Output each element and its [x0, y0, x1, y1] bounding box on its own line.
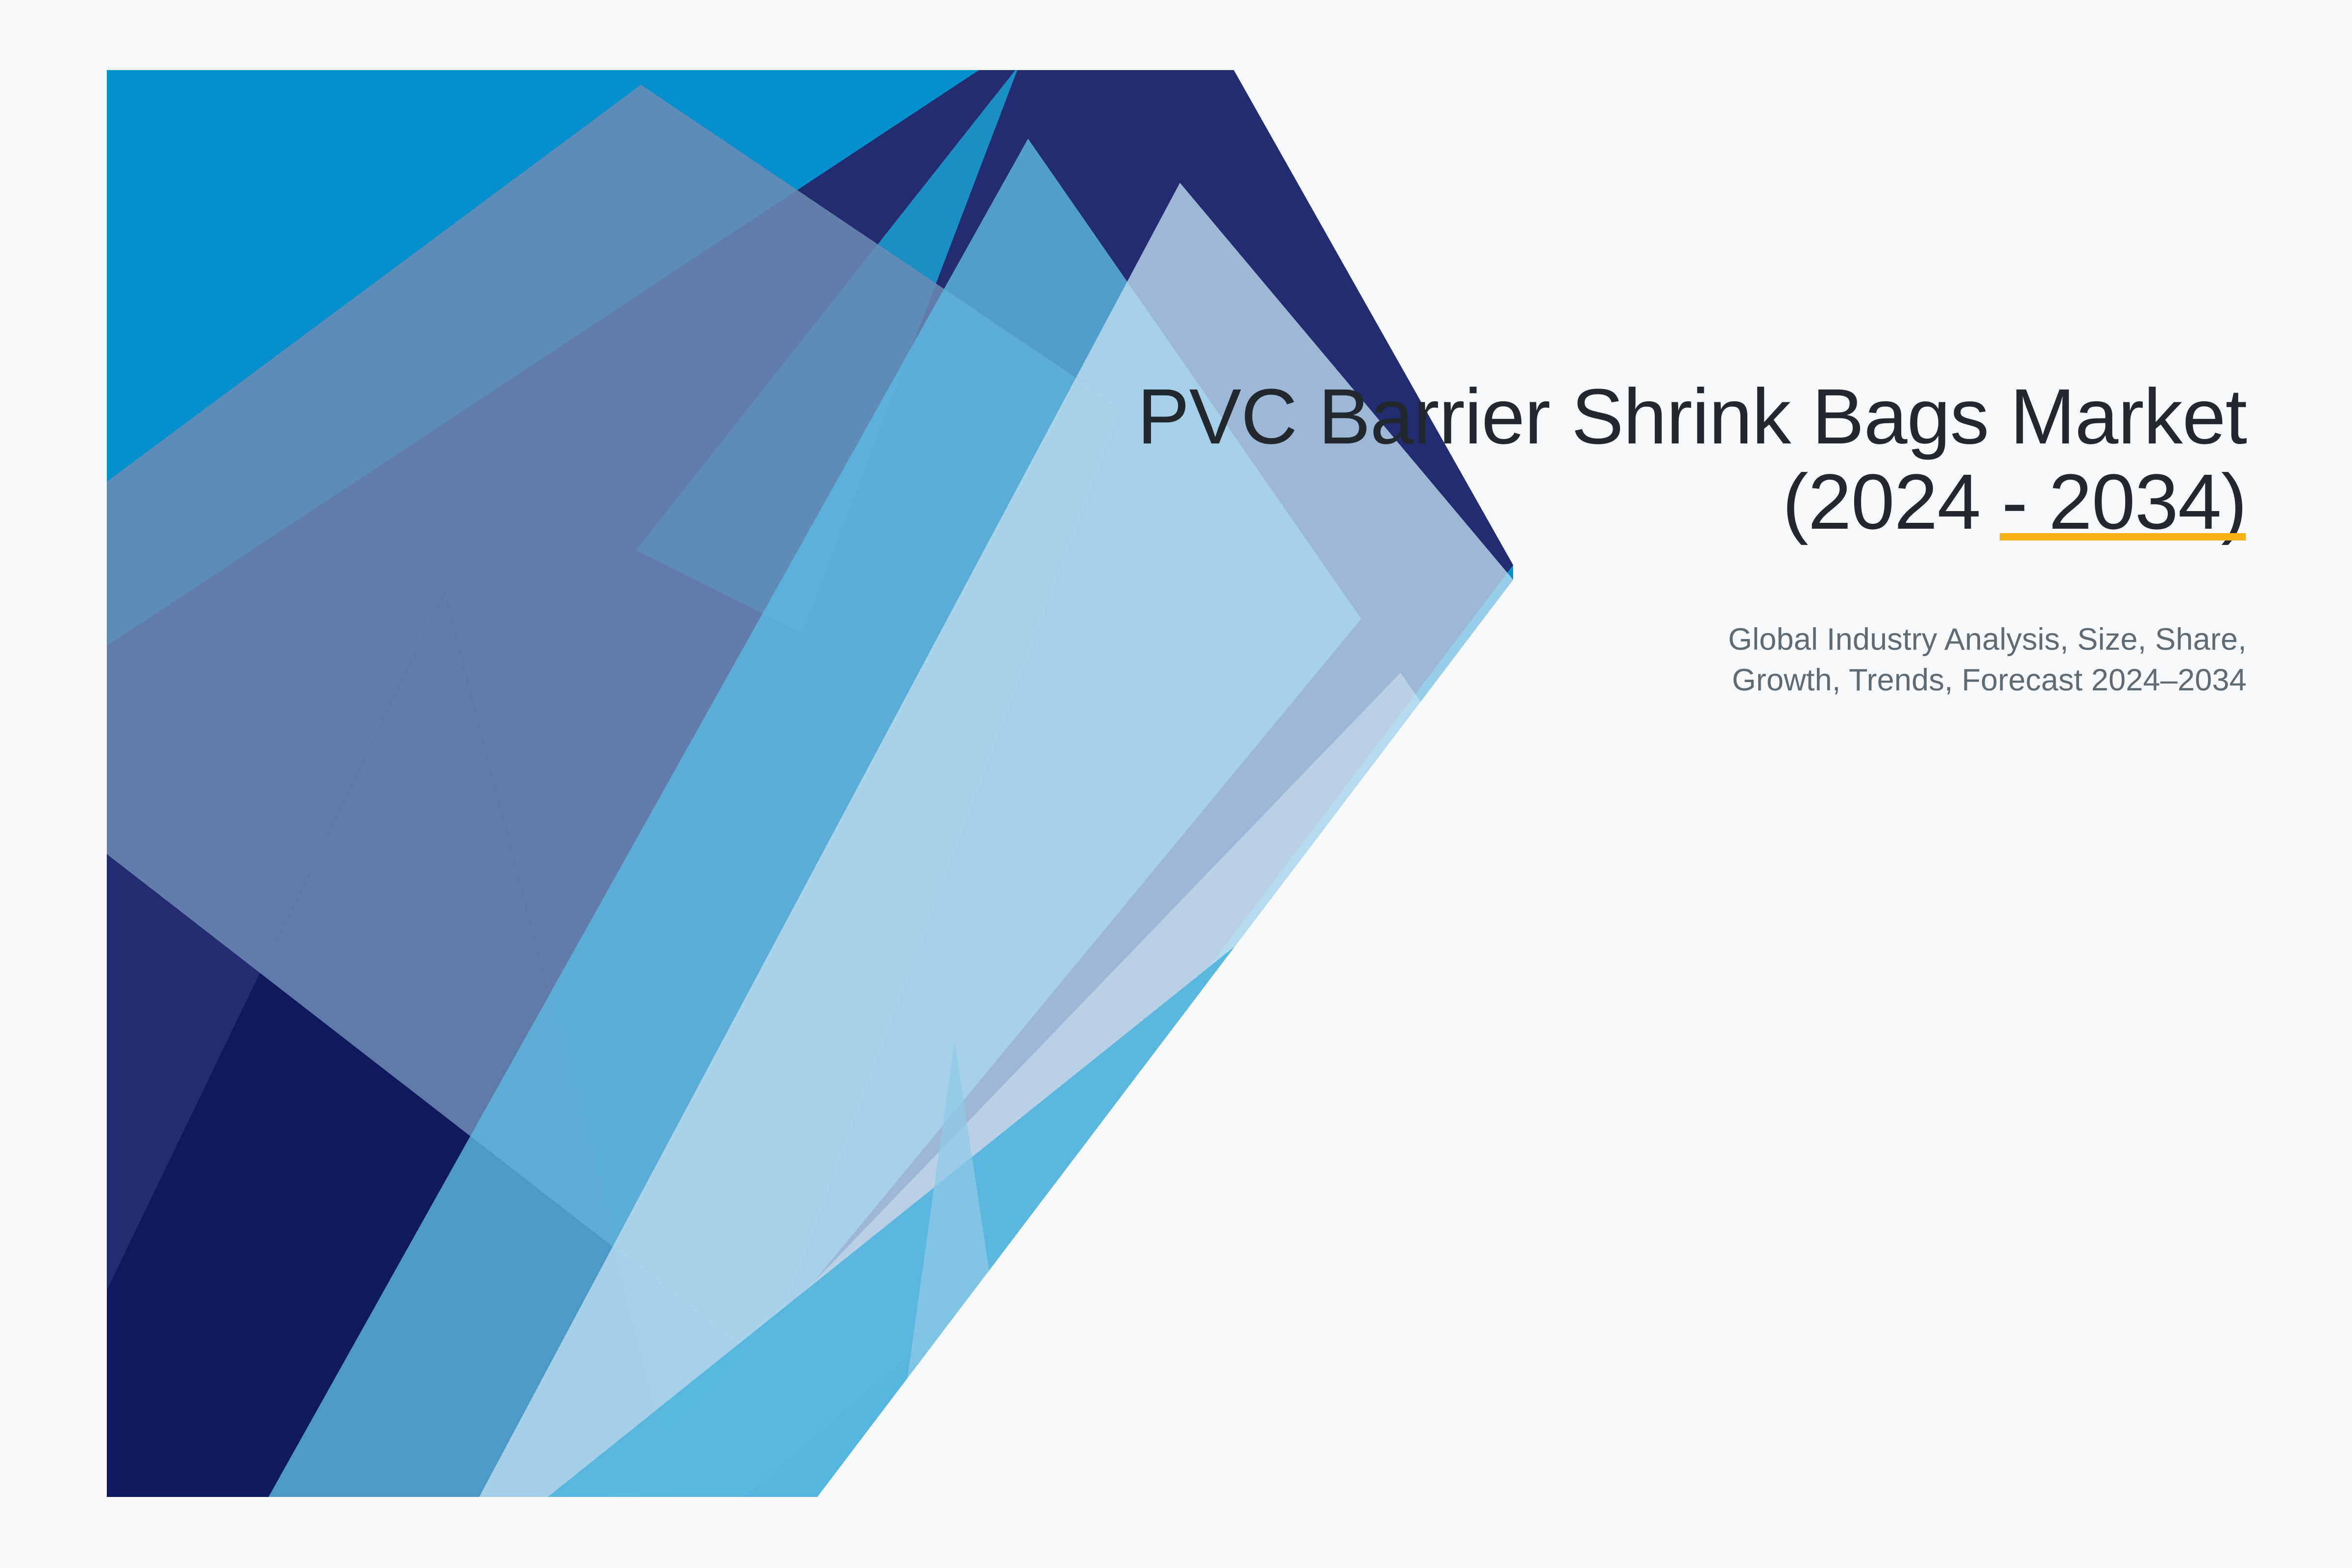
yellow-accent-rule — [2000, 533, 2246, 540]
abstract-polygon-graphic — [107, 70, 1513, 1497]
page-subtitle: Global Industry Analysis, Size, Share, G… — [1029, 619, 2247, 701]
cover-text-block: PVC Barrier Shrink Bags Market (2024 - 2… — [1029, 377, 2247, 701]
title-line-2: (2024 - 2034) — [1029, 463, 2247, 541]
subtitle-line-2: Growth, Trends, Forecast 2024–2034 — [1029, 660, 2247, 701]
subtitle-line-1: Global Industry Analysis, Size, Share, — [1029, 619, 2247, 660]
title-line-1: PVC Barrier Shrink Bags Market — [1029, 377, 2247, 456]
page-title: PVC Barrier Shrink Bags Market (2024 - 2… — [1029, 377, 2247, 541]
report-cover-page: PVC Barrier Shrink Bags Market (2024 - 2… — [0, 0, 2352, 1568]
artwork-svg — [107, 70, 1513, 1497]
